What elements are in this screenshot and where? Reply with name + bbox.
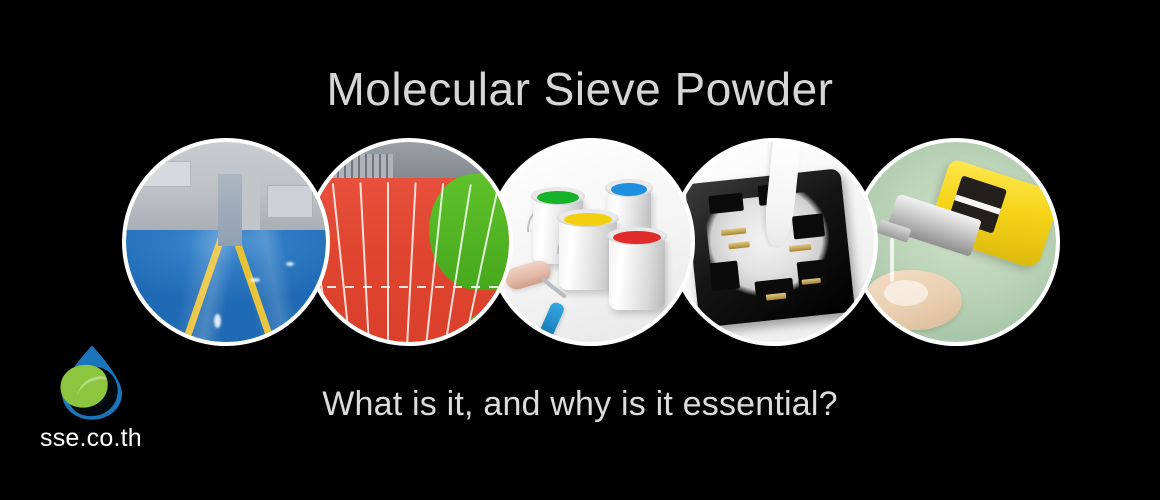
epoxy-gloss-1 bbox=[250, 278, 260, 282]
paint-surface-blue bbox=[611, 183, 648, 196]
photo-circle-running-track bbox=[305, 138, 513, 346]
photo-circle-electronic-potting bbox=[670, 138, 878, 346]
epoxy-gloss-3 bbox=[286, 262, 294, 266]
connector-tab-1 bbox=[708, 193, 744, 214]
track-lane-4 bbox=[387, 182, 389, 342]
banner-root: Molecular Sieve Powder bbox=[0, 0, 1160, 500]
adhesive-tube-image bbox=[856, 142, 1056, 342]
epoxy-door-secondary bbox=[242, 170, 260, 230]
adhesive-pool-highlight bbox=[884, 280, 928, 306]
connector-tab-3 bbox=[792, 213, 825, 239]
connector-tab-4 bbox=[709, 260, 740, 292]
adhesive-drip-stream bbox=[890, 238, 894, 282]
photo-circle-adhesive-tube bbox=[852, 138, 1060, 346]
brand-logo[interactable]: sse.co.th bbox=[40, 344, 180, 456]
electronic-potting-image bbox=[674, 142, 874, 342]
running-track-image bbox=[309, 142, 509, 342]
track-crossline bbox=[309, 286, 509, 288]
page-title: Molecular Sieve Powder bbox=[0, 58, 1160, 120]
photo-circle-epoxy-floor bbox=[122, 138, 330, 346]
photo-circle-paint-buckets bbox=[487, 138, 695, 346]
paint-bucket-red bbox=[609, 236, 665, 310]
epoxy-floor-image bbox=[126, 142, 326, 342]
photo-circle-strip bbox=[0, 138, 1160, 350]
paint-surface-yellow bbox=[564, 213, 613, 226]
epoxy-door bbox=[218, 174, 242, 246]
logo-wordmark: sse.co.th bbox=[40, 422, 180, 454]
paint-surface-red bbox=[613, 231, 660, 244]
epoxy-gloss-2 bbox=[214, 314, 221, 328]
paint-buckets-image bbox=[491, 142, 691, 342]
connector-tab-5 bbox=[755, 278, 795, 308]
paint-surface-green bbox=[537, 191, 579, 204]
water-droplet-leaf-icon bbox=[54, 344, 130, 422]
epoxy-floor-sheen bbox=[126, 230, 326, 342]
